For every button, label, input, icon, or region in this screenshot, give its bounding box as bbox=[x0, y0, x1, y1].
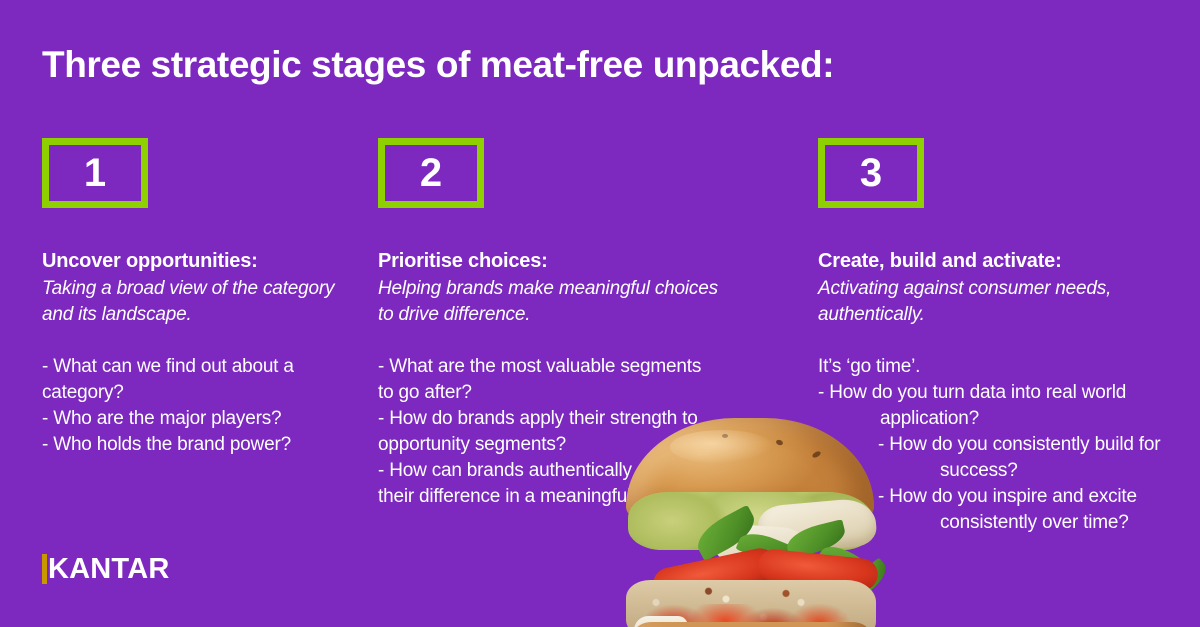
burger-quinoa-patty bbox=[626, 580, 876, 627]
stage-number-box-3: 3 bbox=[818, 138, 924, 208]
kantar-logo: KANTAR bbox=[42, 554, 169, 584]
list-item: - What can we find out about a category? bbox=[42, 354, 362, 406]
page-title: Three strategic stages of meat-free unpa… bbox=[42, 43, 1152, 87]
stage-number-3: 3 bbox=[860, 153, 882, 193]
list-item: It’s ‘go time’. bbox=[818, 354, 1178, 380]
stage-question-list-2: - What are the most valuable segments to… bbox=[378, 354, 718, 510]
stage-number-2: 2 bbox=[420, 153, 442, 193]
list-item: - What are the most valuable segments to… bbox=[378, 354, 718, 406]
stage-question-list-1: - What can we find out about a category?… bbox=[42, 354, 362, 458]
slide-canvas: Three strategic stages of meat-free unpa… bbox=[0, 0, 1200, 627]
burger-bottom-bun bbox=[634, 622, 870, 627]
stage-number-box-2: 2 bbox=[378, 138, 484, 208]
list-item: - How can brands authentically activate … bbox=[378, 458, 718, 510]
stage-number-1: 1 bbox=[84, 153, 106, 193]
list-item: - How do you turn data into real world a… bbox=[818, 380, 1178, 432]
stage-heading-2: Prioritise choices: bbox=[378, 248, 718, 275]
stage-number-box-1: 1 bbox=[42, 138, 148, 208]
burger-halloumi-slice-2 bbox=[713, 523, 812, 570]
burger-pepper-relish bbox=[644, 604, 858, 627]
stage-heading-1: Uncover opportunities: bbox=[42, 248, 362, 275]
list-item: - How do brands apply their strength to … bbox=[378, 406, 718, 458]
stage-column-3: 3 Create, build and activate: Activating… bbox=[818, 138, 1178, 536]
stage-subheading-1: Taking a broad view of the category and … bbox=[42, 276, 362, 328]
burger-rocket-leaf bbox=[691, 505, 762, 562]
burger-sauce bbox=[634, 616, 688, 627]
list-item: - Who are the major players? bbox=[42, 406, 362, 432]
stage-column-2: 2 Prioritise choices: Helping brands mak… bbox=[378, 138, 718, 510]
stage-column-1: 1 Uncover opportunities: Taking a broad … bbox=[42, 138, 362, 458]
burger-rocket-leaf bbox=[848, 557, 891, 598]
burger-tomato-slice bbox=[650, 545, 780, 604]
burger-rocket-leaf bbox=[735, 527, 794, 569]
burger-rocket-leaf bbox=[816, 538, 879, 592]
list-item: - How do you consistently build for succ… bbox=[818, 432, 1178, 484]
burger-tomato-slice bbox=[757, 548, 880, 592]
stage-question-list-3: It’s ‘go time’. - How do you turn data i… bbox=[818, 354, 1178, 536]
logo-wordmark: KANTAR bbox=[48, 554, 169, 584]
stage-subheading-2: Helping brands make meaningful choices t… bbox=[378, 276, 718, 328]
list-item: - Who holds the brand power? bbox=[42, 432, 362, 458]
stage-subheading-3: Activating against consumer needs, authe… bbox=[818, 276, 1178, 328]
stage-heading-3: Create, build and activate: bbox=[818, 248, 1178, 275]
logo-accent-bar bbox=[42, 554, 47, 584]
list-item: - How do you inspire and excite consiste… bbox=[818, 484, 1178, 536]
